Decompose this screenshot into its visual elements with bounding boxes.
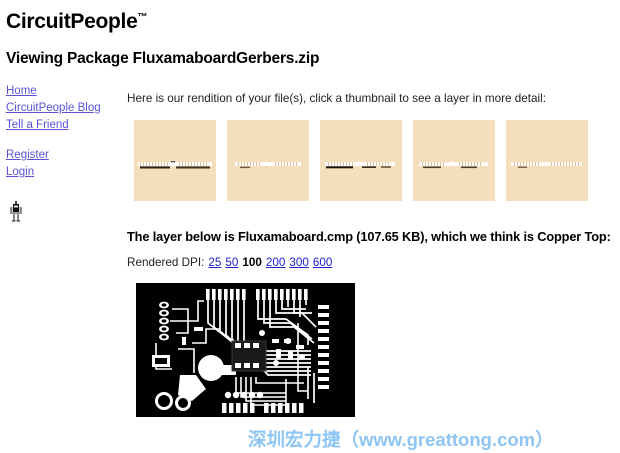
sidebar-divider-gap: [6, 134, 121, 147]
robot-mascot-icon: [9, 201, 23, 223]
dpi-selector: Rendered DPI:2550100200300600: [127, 256, 332, 269]
layer-thumbnail-3-preview: [324, 158, 398, 170]
board-layer-image[interactable]: [136, 283, 355, 417]
layer-thumbnail-2-preview: [231, 158, 305, 170]
layer-description-heading: The layer below is Fluxamaboard.cmp (107…: [127, 229, 611, 244]
trademark-symbol: ™: [137, 12, 147, 23]
sidebar-item-login[interactable]: Login: [6, 164, 121, 181]
sidebar-item-tell-a-friend[interactable]: Tell a Friend: [6, 117, 121, 134]
dpi-option-200[interactable]: 200: [266, 256, 286, 269]
watermark-text: 深圳宏力捷（www.greattong.com）: [248, 426, 554, 452]
dpi-option-25[interactable]: 25: [208, 256, 221, 269]
sidebar-item-register[interactable]: Register: [6, 147, 121, 164]
sidebar-item-circuitpeople-blog[interactable]: CircuitPeople Blog: [6, 100, 121, 117]
page-title: CircuitPeople™: [6, 10, 147, 34]
layer-thumbnail-1[interactable]: [134, 120, 216, 201]
layer-thumbnail-1-preview: [138, 158, 212, 170]
intro-instructions: Here is our rendition of your file(s), c…: [127, 92, 546, 105]
layer-thumbnail-2[interactable]: [227, 120, 309, 201]
dpi-option-100-selected: 100: [242, 256, 262, 269]
page-heading: Viewing Package FluxamaboardGerbers.zip: [6, 50, 319, 68]
dpi-option-300[interactable]: 300: [289, 256, 309, 269]
layer-thumbnail-5[interactable]: [506, 120, 588, 201]
layer-thumbnail-4[interactable]: [413, 120, 495, 201]
sidebar-item-home[interactable]: Home: [6, 83, 121, 100]
dpi-option-50[interactable]: 50: [225, 256, 238, 269]
layer-thumbnail-3[interactable]: [320, 120, 402, 201]
layer-thumbnail-4-preview: [417, 158, 491, 170]
thumbnail-row: [134, 120, 588, 201]
site-title-text: CircuitPeople: [6, 10, 137, 33]
layer-thumbnail-5-preview: [510, 158, 584, 170]
sidebar-nav: Home CircuitPeople Blog Tell a Friend Re…: [6, 83, 121, 181]
dpi-label: Rendered DPI:: [127, 256, 204, 269]
dpi-option-600[interactable]: 600: [313, 256, 333, 269]
